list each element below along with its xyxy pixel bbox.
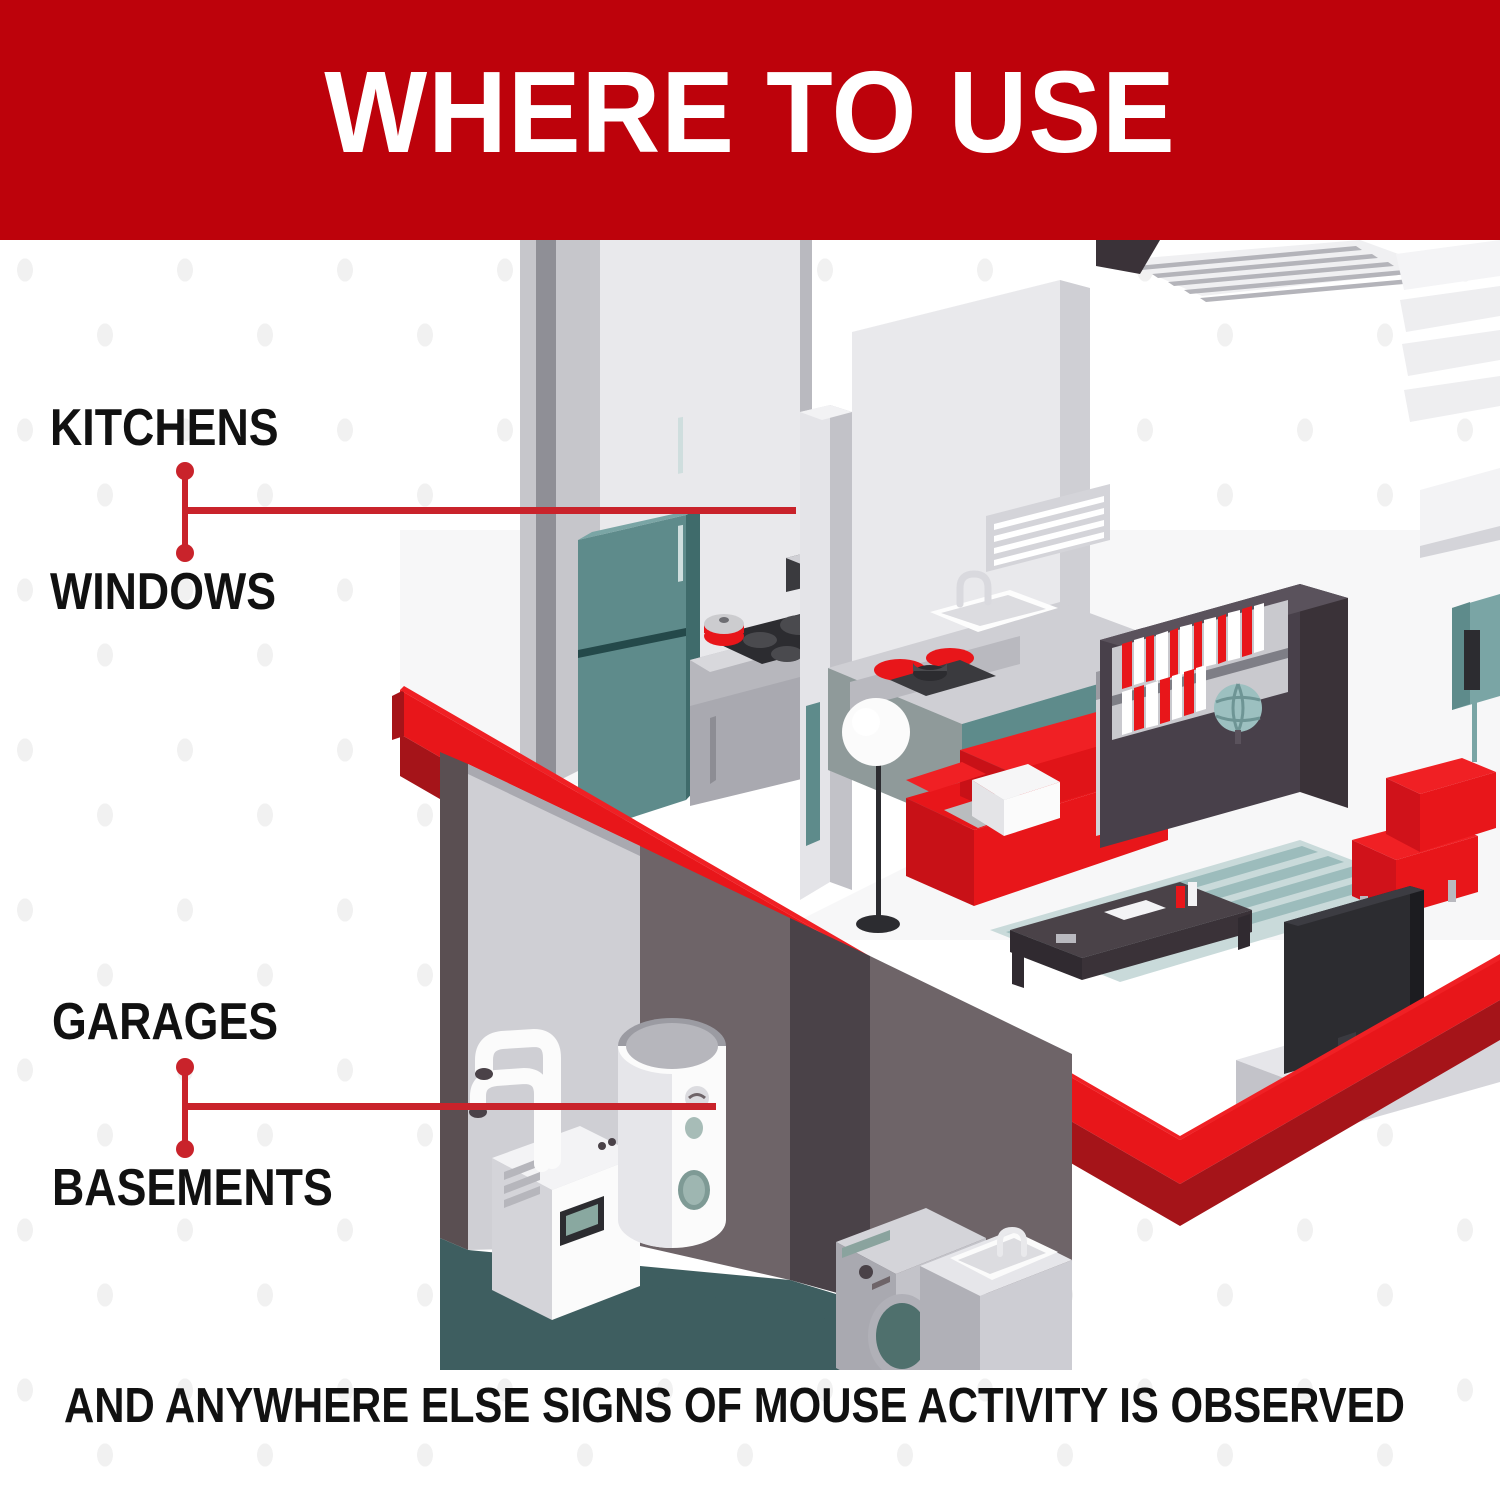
ceiling-slats bbox=[1120, 240, 1442, 302]
page-title: WHERE TO USE bbox=[45, 0, 1455, 240]
connector-garages-basements bbox=[176, 1058, 956, 1158]
label-garages: GARAGES bbox=[52, 992, 278, 1052]
connector-horizontal-line bbox=[182, 507, 796, 514]
connector-dot-top bbox=[176, 462, 194, 480]
connector-dot-bottom bbox=[176, 1140, 194, 1158]
label-basements: BASEMENTS bbox=[52, 1158, 333, 1218]
label-windows: WINDOWS bbox=[50, 562, 276, 622]
connector-horizontal-line bbox=[182, 1103, 716, 1110]
red-pot bbox=[704, 614, 744, 646]
footer-note: AND ANYWHERE ELSE SIGNS OF MOUSE ACTIVIT… bbox=[64, 1378, 1405, 1434]
connector-dot-top bbox=[176, 1058, 194, 1076]
connector-dot-bottom bbox=[176, 544, 194, 562]
ceiling-panels bbox=[1396, 240, 1500, 422]
label-kitchens: KITCHENS bbox=[50, 398, 279, 458]
header-banner: WHERE TO USE bbox=[0, 0, 1500, 240]
connector-kitchens-windows bbox=[176, 462, 956, 562]
